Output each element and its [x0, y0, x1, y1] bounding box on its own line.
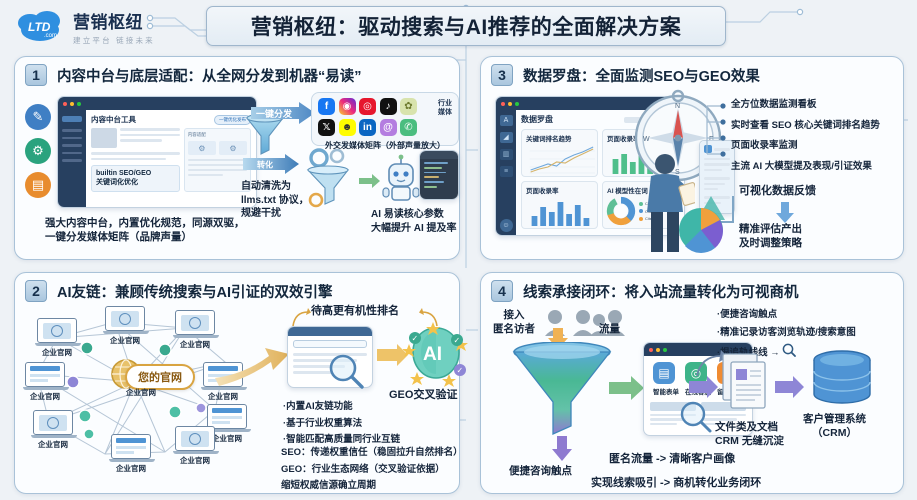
gear-funnel-icon — [303, 148, 359, 208]
panel4-bullet: ·便捷咨询触点 — [717, 308, 856, 323]
header: LTD .com 营销枢纽 建立平台 链接未来 营销枢纽：驱动搜索与AI推荐的全… — [0, 0, 917, 52]
gear-icon[interactable]: ⚙ — [25, 138, 51, 164]
panel3-bullet: 全方位数据监测看板 — [731, 98, 880, 113]
convert-arrow-label: 转化 — [257, 160, 273, 170]
panel2-bullet: ·基于行业权重算法 — [283, 417, 400, 432]
ai-readable-caption: AI 易读核心参数 大幅提升 AI 提及率 — [371, 208, 457, 235]
conversion-funnel-icon — [509, 342, 615, 442]
distribute-arrow: 一键分发 — [251, 102, 317, 124]
ai-brain-icon: AI ✓ ✓ ✓ — [403, 322, 469, 388]
user-icon[interactable]: ☺ — [500, 219, 513, 232]
green-arrow — [609, 376, 645, 400]
panel3-number: 3 — [491, 64, 513, 86]
panel1-title: 内容中台与底层适配：从全网分发到机器“易读” — [57, 65, 362, 86]
node-label: 企业官网 — [35, 347, 79, 358]
list-icon[interactable]: ≡ — [500, 166, 513, 177]
linkedin-icon[interactable]: in — [359, 119, 376, 136]
edit-icon[interactable]: ✎ — [25, 104, 51, 130]
funnel-out-label: 便捷咨询触点 — [509, 464, 572, 478]
magnifier-icon — [782, 343, 796, 357]
page-title: 营销枢纽：驱动搜索与AI推荐的全面解决方案 — [206, 6, 726, 46]
node-label: 企业官网 — [31, 439, 75, 450]
node-laptop: 企业官网 — [173, 426, 217, 466]
nav-icon-a[interactable]: A — [500, 115, 513, 126]
svg-text:W: W — [643, 136, 650, 143]
top-note: 待高更有机性排名 — [311, 304, 399, 319]
llms-clean-caption: 自动清洗为 llms.txt 协议， 规避干扰 — [241, 180, 309, 221]
panel3-body: A ◢ ▥ ≡ ☺ 数据罗盘 — [481, 88, 903, 259]
doc-caption: 文件类及文档 CRM 无缝沉淀 — [715, 420, 784, 448]
svg-text:.com: .com — [44, 33, 57, 39]
window-titlebar — [58, 97, 256, 110]
threads-icon[interactable]: @ — [380, 119, 397, 136]
panel1-body: ✎ ⚙ ▤ 内容中台工具 — [15, 88, 459, 259]
panel4-number: 4 — [491, 280, 513, 302]
snapchat-icon[interactable]: ☻ — [339, 119, 356, 136]
panel4-title: 线索承接闭环：将入站流量转化为可视商机 — [523, 281, 799, 302]
distribute-arrow-label: 一键分发 — [256, 108, 293, 119]
purple-arrow — [689, 376, 719, 398]
x-icon[interactable]: 𝕏 — [318, 119, 335, 136]
documents-icon — [719, 352, 775, 418]
panel2-note: 缩短权威信源确立周期 — [281, 479, 463, 494]
inflow-label: 接入 匿名访者 — [493, 308, 535, 336]
svg-text:✓: ✓ — [454, 336, 461, 345]
panel3-bullet: 实时查看 SEO 核心关键词排名趋势 — [731, 119, 880, 134]
panel1-bottom-caption: 强大内容中台，内置优化规范，同源双驱， 一键分发媒体矩阵（品牌声量） — [45, 216, 245, 244]
panel2-body: 企业官网 企业官网 企业官网 企业官网 企业官网 — [15, 304, 459, 493]
node-laptop: 企业官网 — [109, 434, 153, 474]
dashboard-title: 数据罗盘 — [521, 114, 553, 125]
node-laptop: 企业官网 — [31, 410, 75, 450]
smart-form-icon[interactable]: ▤ — [653, 362, 675, 384]
pie-illustration — [675, 188, 747, 254]
small-green-arrow — [359, 174, 381, 188]
panel3-bullet: 页面收录率监测 — [731, 139, 880, 154]
chart-icon[interactable]: ◢ — [500, 132, 513, 143]
badge-icon[interactable]: ✿ — [400, 98, 417, 115]
gear-icon: ⚙ — [188, 141, 216, 155]
doc-icon[interactable]: ▤ — [25, 172, 51, 198]
svg-text:N: N — [675, 103, 680, 110]
node-label: 企业官网 — [173, 339, 217, 350]
window-panel-title: 内容适配 — [188, 132, 247, 138]
logo-subtitle: 建立平台 链接未来 — [73, 35, 155, 46]
panel-content-hub: 1 内容中台与底层适配：从全网分发到机器“易读” ✎ ⚙ ▤ — [14, 56, 460, 260]
svg-text:✓: ✓ — [457, 366, 464, 375]
panel3-title: 数据罗盘：全面监测SEO与GEO效果 — [523, 65, 760, 86]
panel2-title: AI友链：兼顾传统搜索与AI引证的双效引擎 — [57, 281, 333, 302]
social-media-matrix: f ◉ ◎ ♪ ✿ 𝕏 ☻ in @ ✆ 行业 媒体 外 — [311, 92, 459, 146]
node-label: 企业官网 — [103, 335, 147, 346]
facebook-icon[interactable]: f — [318, 98, 335, 115]
funnel-out-arrow — [551, 436, 573, 462]
panel2-note-list: SEO：传递权重信任（稳固拉升自然排名） GEO：行业生态网络（交叉验证依据） … — [281, 446, 463, 494]
panel1-number: 1 — [25, 64, 47, 86]
logo-title: 营销枢纽 — [73, 8, 155, 33]
panel2-note: GEO：行业生态网络（交叉验证依据） — [281, 463, 463, 478]
donut-chart — [606, 196, 636, 226]
panel2-bullet: ·内置AI友链功能 — [283, 400, 400, 415]
panel1-header: 1 内容中台与底层适配：从全网分发到机器“易读” — [15, 57, 459, 88]
flow-line-2: 实现线索吸引 -> 商机转化业务闭环 — [591, 476, 761, 491]
logo-wordmark: LTD — [28, 20, 51, 34]
database-icon — [807, 348, 877, 410]
node-label: 企业官网 — [23, 391, 67, 402]
content-hub-window[interactable]: 内容中台工具 一键优化发布 — [57, 96, 257, 208]
panel2-bullet-list: ·内置AI友链功能 ·基于行业权重算法 ·智能匹配高质量同行业互链 — [283, 400, 400, 448]
panel3-header: 3 数据罗盘：全面监测SEO与GEO效果 — [481, 57, 903, 88]
panel3-bullet: 主流 AI 大模型提及表现/引证效果 — [731, 160, 880, 175]
panel4-header: 4 线索承接闭环：将入站流量转化为可视商机 — [481, 273, 903, 304]
magnifier-icon — [327, 352, 365, 390]
hub-label: 您的官网 — [138, 372, 182, 384]
panel3-bullet-list: 全方位数据监测看板 实时查看 SEO 核心关键词排名趋势 页面收录率监测 主流 … — [731, 98, 880, 175]
ai-badge-label: AI — [423, 344, 442, 365]
robot-icon — [381, 152, 421, 204]
node-label: 企业官网 — [109, 463, 153, 474]
svg-text:✓: ✓ — [412, 334, 419, 343]
gold-arrow — [215, 344, 291, 398]
content-hub-window-title: 内容中台工具 — [91, 114, 136, 125]
industry-media-label: 行业 媒体 — [438, 100, 452, 118]
flow-line-1: 匿名流量 -> 清晰客户画像 — [609, 452, 735, 467]
chart-card-index-rate-2[interactable]: 页面收录率 — [521, 181, 598, 229]
panel-data-compass: 3 数据罗盘：全面监测SEO与GEO效果 A ◢ ▥ ≡ ☺ — [480, 56, 904, 260]
node-laptop: 企业官网 — [173, 310, 217, 350]
chart-title-index-rate-2: 页面收录率 — [522, 182, 597, 195]
panel2-note: SEO：传递权重信任（稳固拉升自然排名） — [281, 446, 463, 461]
purple-arrow — [775, 376, 805, 398]
weibo-icon[interactable]: ◎ — [359, 98, 376, 115]
visual-feedback-label: 可视化数据反馈 — [739, 184, 816, 199]
node-laptop: 企业官网 — [103, 306, 147, 346]
node-laptop: 企业官网 — [35, 318, 79, 358]
tiktok-icon[interactable]: ♪ — [380, 98, 397, 115]
bullet-connectors — [705, 96, 733, 168]
instagram-icon[interactable]: ◉ — [339, 98, 356, 115]
chart-title-keyword-trend: 关键词排名趋势 — [522, 130, 597, 143]
panel4-body: 接入 匿名访者 流量 便捷咨询触点 — [481, 304, 903, 493]
curved-arrow-icon — [291, 308, 311, 328]
panel-ai-friendly-links: 2 AI友链：兼顾传统搜索与AI引证的双效引擎 — [14, 272, 460, 494]
panel2-number: 2 — [25, 280, 47, 302]
node-label: 企业官网 — [119, 387, 163, 398]
code-window — [419, 150, 459, 200]
node-laptop: 企业官网 — [119, 386, 163, 398]
bars-icon[interactable]: ▥ — [500, 149, 513, 160]
brand-logo[interactable]: LTD .com 营销枢纽 建立平台 链接未来 — [14, 8, 155, 46]
node-label: 企业官网 — [173, 455, 217, 466]
convert-arrow: 转化 — [243, 154, 301, 174]
chart-card-keyword-trend[interactable]: 关键词排名趋势 — [521, 129, 598, 177]
outcome-caption: 精准评估产出 及时调整策略 — [739, 222, 802, 250]
touchpoint-label: 智能表单 — [653, 386, 679, 396]
seo-geo-callout: builtin SEO/GEO 关键词化优化 — [91, 165, 180, 192]
node-laptop: 企业官网 — [23, 362, 67, 402]
down-arrow-icon — [775, 202, 795, 224]
crm-caption: 客户管理系统 （CRM） — [803, 412, 866, 440]
wechat-icon[interactable]: ✆ — [400, 119, 417, 136]
page-title-text: 营销枢纽：驱动搜索与AI推荐的全面解决方案 — [251, 11, 682, 41]
panel2-header: 2 AI友链：兼顾传统搜索与AI引证的双效引擎 — [15, 273, 459, 304]
traffic-label: 流量 — [599, 322, 620, 336]
cloud-logo-icon: LTD .com — [14, 10, 66, 44]
magnifier-icon — [679, 400, 713, 434]
panel-lead-closed-loop: 4 线索承接闭环：将入站流量转化为可视商机 接入 匿名访者 流量 — [480, 272, 904, 494]
panel4-bullet: ·精准记录访客浏览轨迹/搜索意图 — [717, 326, 856, 341]
